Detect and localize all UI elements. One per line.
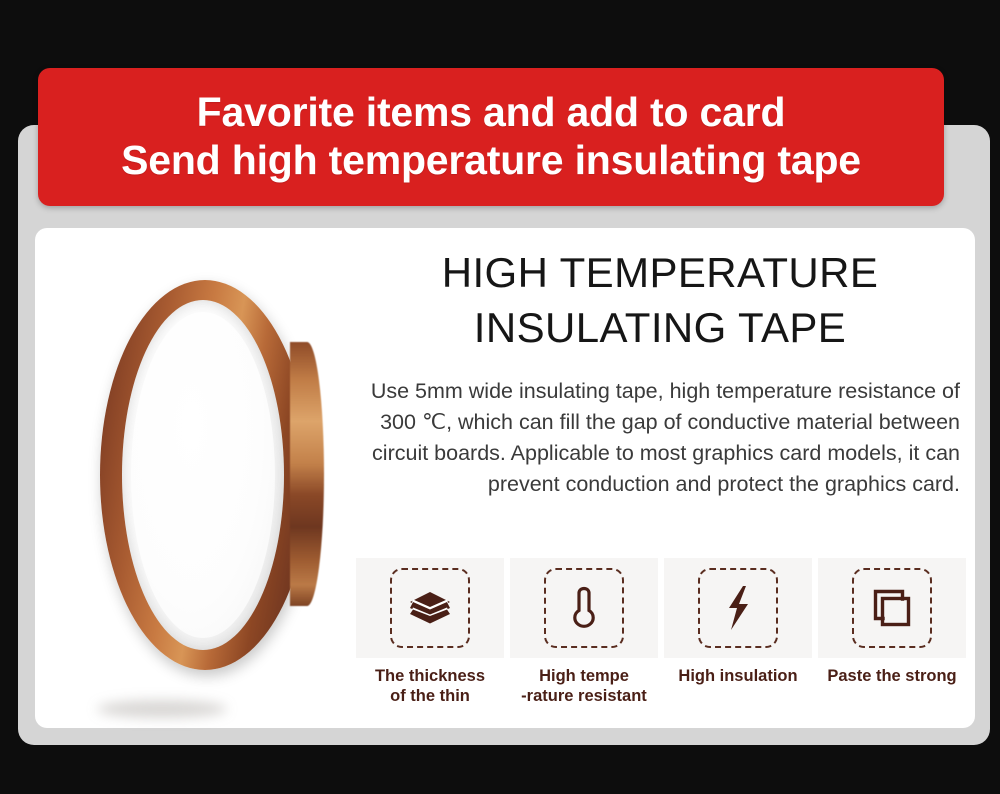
- tape-roll-edge: [290, 342, 324, 606]
- feature-item-adhesion: Paste the strong: [818, 558, 966, 706]
- product-headline: HIGH TEMPERATURE INSULATING TAPE: [360, 245, 960, 356]
- promo-banner: Favorite items and add to card Send high…: [38, 68, 944, 206]
- tape-roll-core: [122, 300, 284, 650]
- feature-icon-box: [510, 558, 658, 658]
- dashed-frame: [390, 568, 470, 648]
- feature-strip: The thickness of the thin High tempe -ra…: [356, 558, 968, 706]
- feature-label: The thickness of the thin: [356, 666, 504, 706]
- feature-item-temperature: High tempe -rature resistant: [510, 558, 658, 706]
- feature-icon-box: [664, 558, 812, 658]
- lightning-bolt-icon: [724, 585, 752, 631]
- promo-banner-line-1: Favorite items and add to card: [197, 89, 786, 137]
- feature-icon-box: [818, 558, 966, 658]
- dashed-frame: [544, 568, 624, 648]
- feature-label: High insulation: [664, 666, 812, 686]
- feature-item-insulation: High insulation: [664, 558, 812, 706]
- product-headline-line-1: HIGH TEMPERATURE: [360, 245, 960, 300]
- product-shadow: [97, 700, 227, 718]
- product-description: Use 5mm wide insulating tape, high tempe…: [360, 376, 960, 500]
- feature-label: Paste the strong: [818, 666, 966, 686]
- advertisement-banner: Favorite items and add to card Send high…: [0, 0, 1000, 794]
- dashed-frame: [852, 568, 932, 648]
- product-headline-line-2: INSULATING TAPE: [360, 300, 960, 355]
- tape-roll: [100, 280, 310, 670]
- feature-item-thickness: The thickness of the thin: [356, 558, 504, 706]
- copy-squares-icon: [871, 587, 913, 629]
- text-column: HIGH TEMPERATURE INSULATING TAPE Use 5mm…: [360, 245, 960, 500]
- feature-label: High tempe -rature resistant: [510, 666, 658, 706]
- tape-roll-core-inner: [131, 312, 275, 638]
- promo-banner-line-2: Send high temperature insulating tape: [121, 137, 861, 185]
- product-image: [45, 250, 375, 710]
- feature-icon-box: [356, 558, 504, 658]
- thermometer-icon: [571, 585, 597, 631]
- dashed-frame: [698, 568, 778, 648]
- layers-icon: [409, 590, 451, 626]
